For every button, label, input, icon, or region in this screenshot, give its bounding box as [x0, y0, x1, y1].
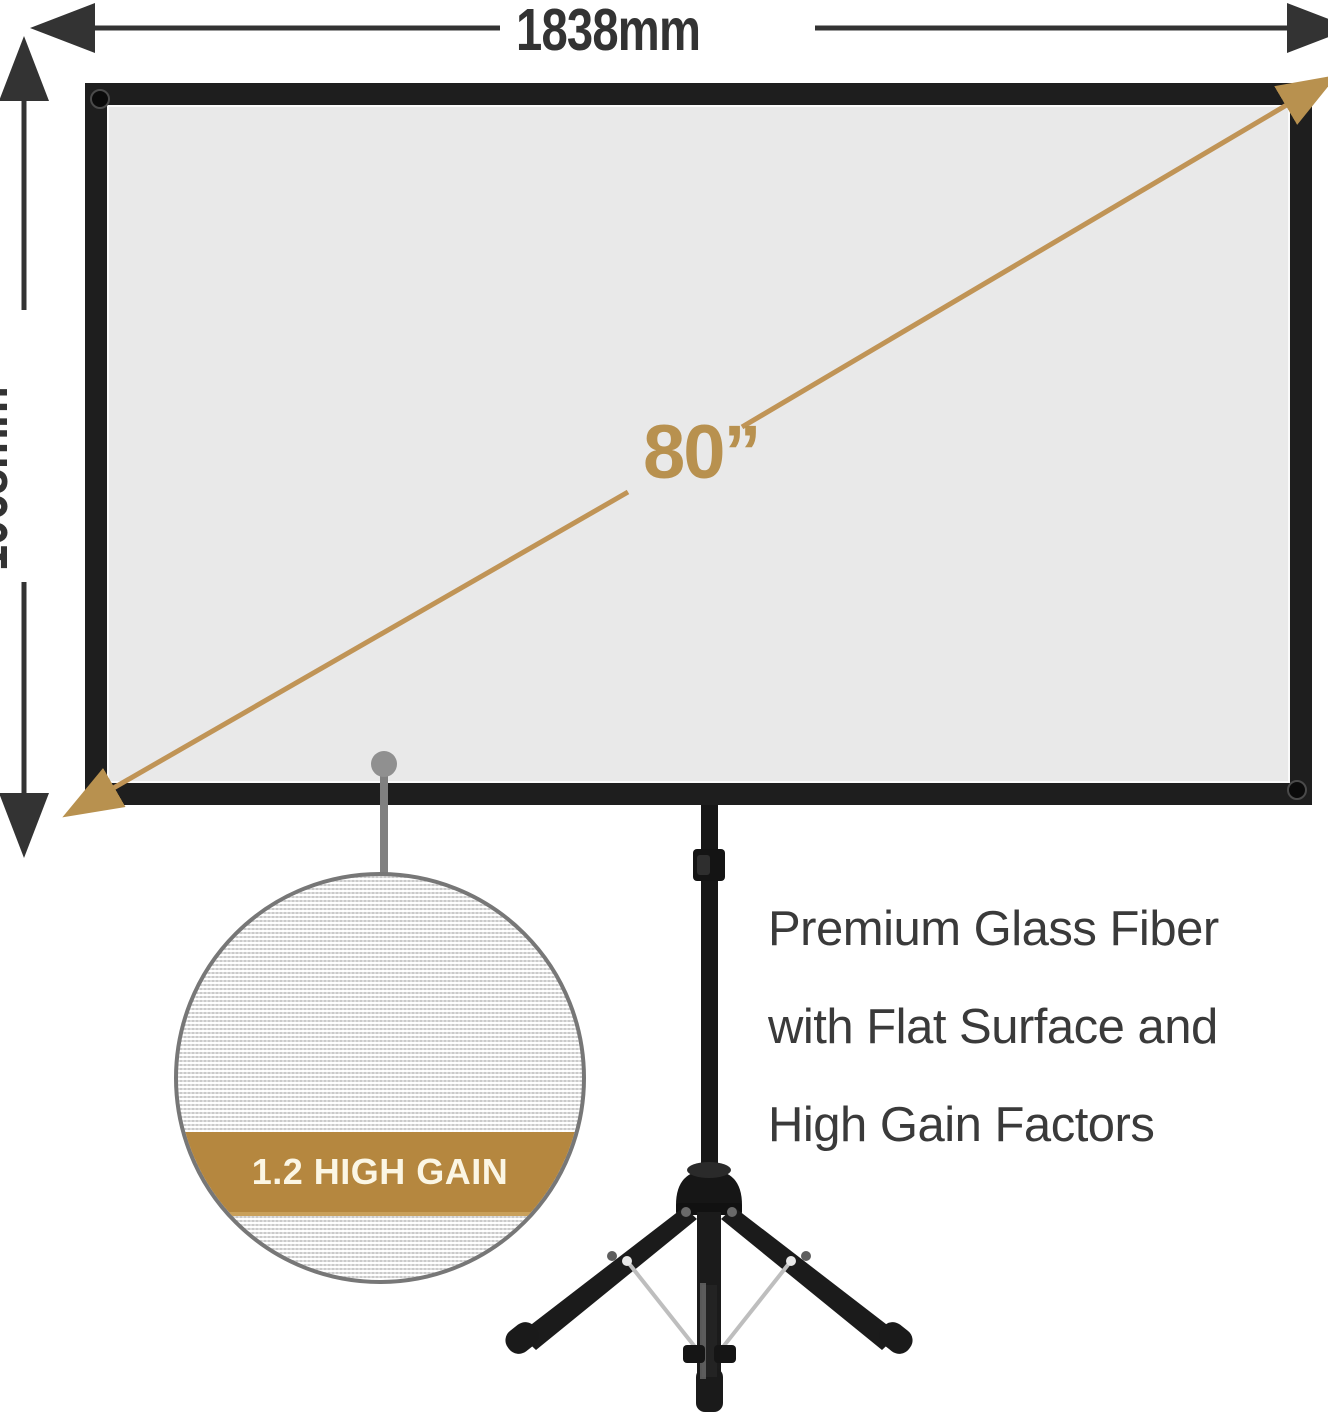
- tripod-leg-left: [519, 1207, 697, 1350]
- height-adjust-clamp: [693, 849, 725, 881]
- product-diagram-canvas: 1838mm 1068mm 80” 1.2 HIGH GAIN Premium …: [0, 0, 1328, 1420]
- callout-anchor-dot: [371, 751, 397, 777]
- width-dimension-label: 1838mm: [516, 0, 700, 64]
- feature-line-2: with Flat Surface and: [768, 978, 1328, 1076]
- diagonal-size-label: 80”: [643, 409, 760, 496]
- leg-rivet-left: [607, 1251, 617, 1261]
- gain-band: 1.2 HIGH GAIN: [178, 1132, 582, 1216]
- feature-line-3: High Gain Factors: [768, 1076, 1328, 1174]
- leg-rivet-right: [801, 1251, 811, 1261]
- fabric-magnifier-callout: 1.2 HIGH GAIN: [174, 872, 586, 1284]
- height-dimension-label: 1068mm: [0, 387, 21, 571]
- gain-band-label: 1.2 HIGH GAIN: [252, 1151, 509, 1193]
- feature-line-1: Premium Glass Fiber: [768, 880, 1328, 978]
- tripod-leg-right: [721, 1207, 899, 1350]
- feature-description: Premium Glass Fiber with Flat Surface an…: [768, 880, 1328, 1174]
